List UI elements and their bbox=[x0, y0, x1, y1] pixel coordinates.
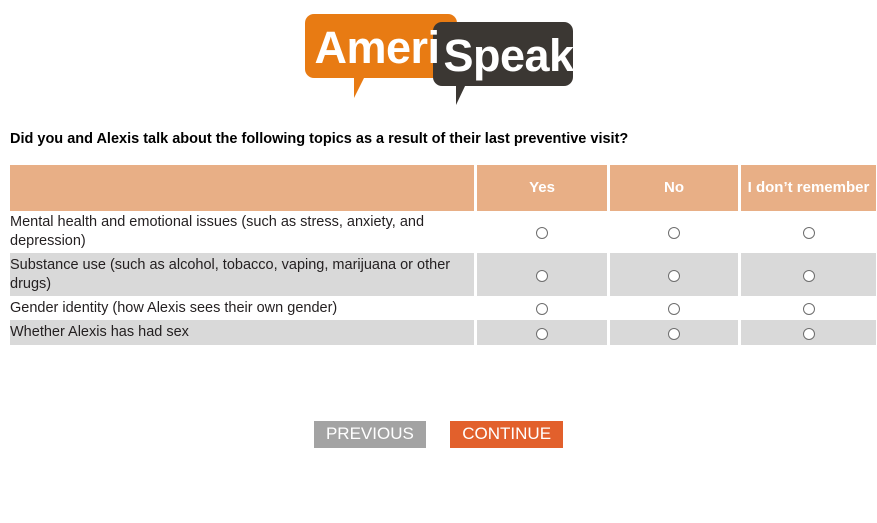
row-label-mental-health: Mental health and emotional issues (such… bbox=[10, 211, 476, 253]
survey-matrix-table: Yes No I don’t remember Mental health an… bbox=[10, 165, 876, 345]
radio-cell-gender-identity-yes[interactable] bbox=[476, 296, 609, 320]
logo-orange-bubble-tail bbox=[354, 76, 376, 98]
table-header-label-column bbox=[10, 165, 476, 211]
logo-text-speak: Speak bbox=[444, 33, 574, 78]
radio-button[interactable] bbox=[803, 270, 815, 282]
radio-button[interactable] bbox=[668, 303, 680, 315]
row-label-had-sex: Whether Alexis has had sex bbox=[10, 320, 476, 345]
radio-button[interactable] bbox=[668, 328, 680, 340]
previous-button[interactable]: PREVIOUS bbox=[314, 421, 426, 448]
radio-cell-gender-identity-dont-remember[interactable] bbox=[740, 296, 877, 320]
question-text: Did you and Alexis talk about the follow… bbox=[10, 131, 628, 147]
radio-cell-mental-health-no[interactable] bbox=[609, 211, 740, 253]
radio-cell-mental-health-yes[interactable] bbox=[476, 211, 609, 253]
radio-button[interactable] bbox=[536, 270, 548, 282]
radio-button[interactable] bbox=[536, 328, 548, 340]
radio-cell-substance-use-dont-remember[interactable] bbox=[740, 253, 877, 296]
table-header-yes: Yes bbox=[476, 165, 609, 211]
radio-cell-had-sex-no[interactable] bbox=[609, 320, 740, 345]
amerispeak-logo: Ameri Speak bbox=[0, 14, 877, 110]
row-label-substance-use: Substance use (such as alcohol, tobacco,… bbox=[10, 253, 476, 296]
radio-button[interactable] bbox=[803, 328, 815, 340]
radio-cell-substance-use-no[interactable] bbox=[609, 253, 740, 296]
table-row: Whether Alexis has had sex bbox=[10, 320, 876, 345]
logo-dark-bubble-tail bbox=[456, 84, 476, 105]
row-label-gender-identity: Gender identity (how Alexis sees their o… bbox=[10, 296, 476, 320]
radio-cell-substance-use-yes[interactable] bbox=[476, 253, 609, 296]
radio-button[interactable] bbox=[668, 270, 680, 282]
radio-button[interactable] bbox=[803, 227, 815, 239]
radio-button[interactable] bbox=[668, 227, 680, 239]
table-row: Gender identity (how Alexis sees their o… bbox=[10, 296, 876, 320]
radio-button[interactable] bbox=[536, 227, 548, 239]
table-row: Mental health and emotional issues (such… bbox=[10, 211, 876, 253]
table-header-no: No bbox=[609, 165, 740, 211]
radio-button[interactable] bbox=[536, 303, 548, 315]
radio-button[interactable] bbox=[803, 303, 815, 315]
logo-text-ameri: Ameri bbox=[315, 25, 440, 70]
continue-button[interactable]: CONTINUE bbox=[450, 421, 563, 448]
navigation-button-bar: PREVIOUS CONTINUE bbox=[0, 421, 877, 448]
table-row: Substance use (such as alcohol, tobacco,… bbox=[10, 253, 876, 296]
radio-cell-had-sex-dont-remember[interactable] bbox=[740, 320, 877, 345]
radio-cell-gender-identity-no[interactable] bbox=[609, 296, 740, 320]
table-header-row: Yes No I don’t remember bbox=[10, 165, 876, 211]
radio-cell-mental-health-dont-remember[interactable] bbox=[740, 211, 877, 253]
radio-cell-had-sex-yes[interactable] bbox=[476, 320, 609, 345]
table-header-dont-remember: I don’t remember bbox=[740, 165, 877, 211]
